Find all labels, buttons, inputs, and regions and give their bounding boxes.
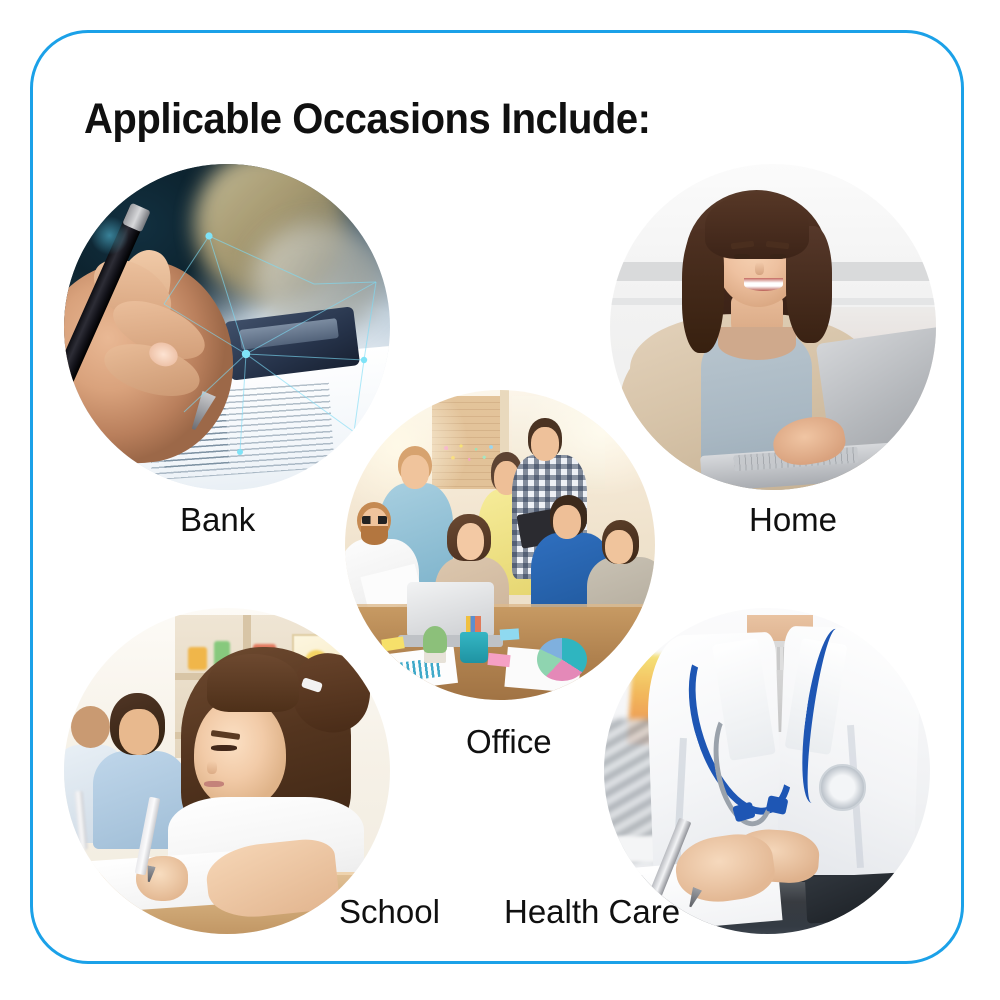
- office-sticky-note-2: [487, 652, 510, 667]
- occasion-image-school: [64, 608, 390, 934]
- office-sticky-note-3: [500, 628, 519, 640]
- occasion-label-health-care: Health Care: [504, 893, 680, 931]
- page-title: Applicable Occasions Include:: [84, 94, 651, 144]
- health-desk-object: [805, 873, 905, 924]
- office-pen-cup: [460, 632, 488, 663]
- office-person-4-beard: [361, 526, 389, 545]
- health-care-scene: [604, 608, 930, 934]
- office-person-3-face: [531, 427, 559, 461]
- bank-scene: [64, 164, 390, 490]
- home-scene: [610, 164, 936, 490]
- occasion-image-home: [610, 164, 936, 490]
- school-toy-1: [188, 647, 208, 670]
- bank-network-overlay: [64, 164, 390, 490]
- school-scene: [64, 608, 390, 934]
- office-person-4-glasses: [362, 516, 387, 524]
- school-classmate-1-head: [71, 706, 110, 748]
- school-classmate-2-face: [119, 709, 158, 755]
- home-eye-left: [734, 254, 750, 259]
- office-person-5-face: [457, 523, 485, 560]
- school-girl-eye: [211, 745, 237, 751]
- home-collar-shadow: [718, 327, 796, 360]
- occasion-image-health-care: [604, 608, 930, 934]
- infographic-canvas: Applicable Occasions Include:: [0, 0, 1000, 1000]
- office-person-6-face: [553, 505, 581, 539]
- occasion-image-bank: [64, 164, 390, 490]
- home-nose: [755, 262, 763, 275]
- home-smile: [744, 278, 783, 291]
- office-pie-chart: [537, 638, 587, 681]
- school-girl-face: [194, 699, 285, 810]
- office-person-1-face: [401, 455, 429, 489]
- school-girl-mouth: [204, 781, 224, 787]
- office-plant: [423, 626, 448, 654]
- home-eye-right: [770, 254, 786, 259]
- home-hair-front: [705, 193, 809, 258]
- office-person-7-face: [605, 530, 633, 564]
- school-girl-hair-front: [207, 654, 298, 713]
- school-foam-letter-orange-2: [109, 923, 137, 934]
- school-foam-letter-yellow: [76, 906, 101, 925]
- occasion-label-home: Home: [749, 501, 837, 539]
- occasion-label-office: Office: [466, 723, 552, 761]
- occasion-label-school: School: [339, 893, 440, 931]
- school-girl-nose: [207, 761, 217, 774]
- health-stethoscope-chestpiece: [819, 764, 865, 810]
- occasion-label-bank: Bank: [180, 501, 255, 539]
